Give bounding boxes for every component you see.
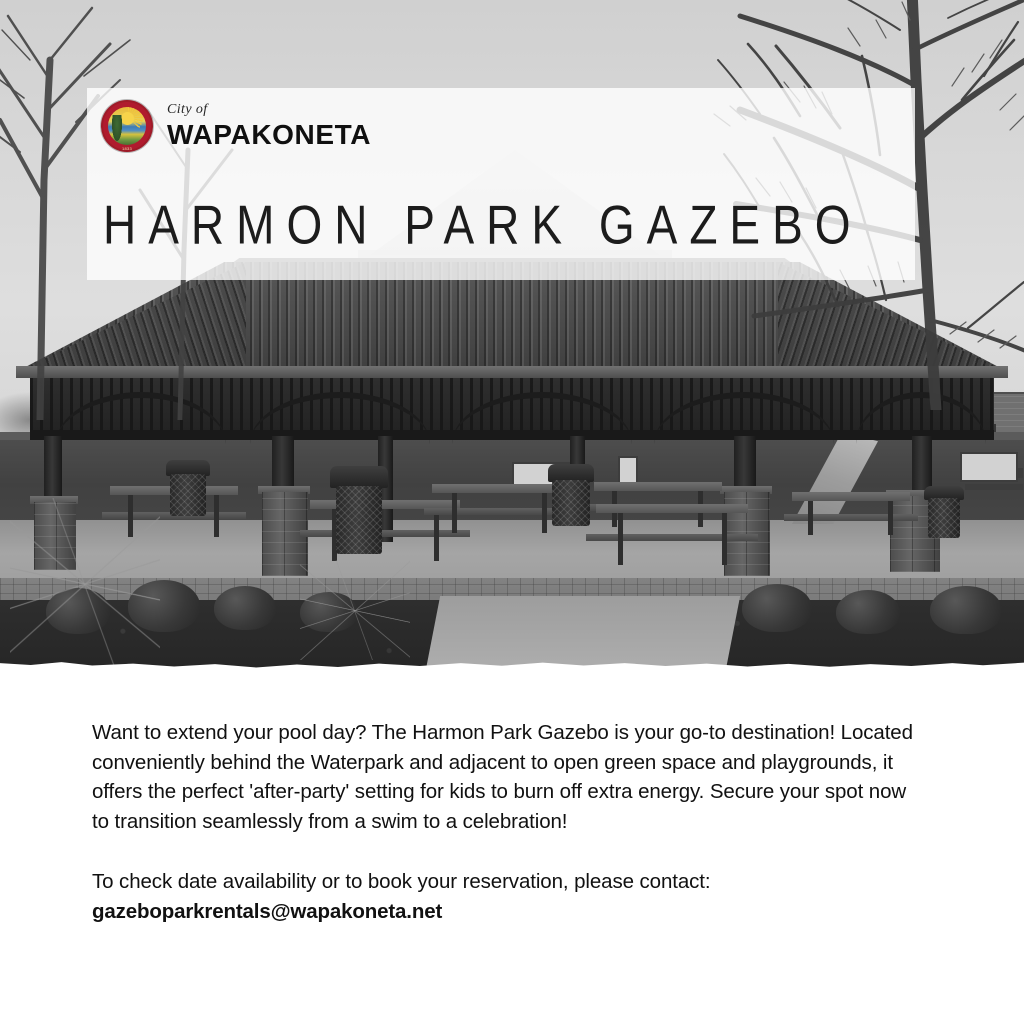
bare-shrub	[300, 560, 410, 660]
picnic-table-leg	[542, 493, 547, 533]
picnic-table	[596, 504, 748, 566]
gazebo-post	[734, 436, 756, 488]
gazebo-soffit	[30, 430, 994, 440]
picnic-table-leg	[808, 501, 813, 535]
trash-can-lid	[330, 466, 388, 488]
city-seal-icon: 1833	[101, 100, 153, 152]
picnic-table-leg	[888, 501, 893, 535]
picnic-table-top	[432, 484, 568, 493]
picnic-table	[792, 492, 910, 536]
description-paragraph: Want to extend your pool day? The Harmon…	[92, 718, 922, 836]
city-seal-year: 1833	[101, 146, 153, 151]
shrub	[214, 586, 276, 630]
contact-block: To check date availability or to book yo…	[92, 867, 922, 926]
picnic-table-leg	[452, 493, 457, 533]
trash-can	[552, 480, 590, 526]
picnic-table-leg	[618, 513, 623, 565]
page-title: HARMON PARK GAZEBO	[103, 193, 903, 257]
picnic-table-leg	[214, 495, 219, 537]
city-of-label: City of	[167, 103, 371, 117]
gazebo-post	[272, 436, 294, 488]
shrub	[930, 586, 1002, 634]
header-overlay-panel: 1833 City of WAPAKONETA HARMON PARK GAZE…	[87, 88, 915, 280]
picnic-table-top	[792, 492, 910, 501]
shrub	[742, 584, 812, 632]
bare-shrub	[10, 498, 160, 668]
picnic-table-top	[596, 504, 748, 513]
city-name-label: WAPAKONETA	[167, 121, 371, 149]
picnic-table	[432, 484, 568, 534]
trash-can	[170, 474, 206, 516]
trash-can	[336, 486, 382, 554]
picnic-table-bench	[784, 514, 918, 521]
contact-prompt: To check date availability or to book yo…	[92, 867, 922, 897]
poster-canvas: 1833 City of WAPAKONETA HARMON PARK GAZE…	[0, 0, 1024, 1024]
seal-tree-icon	[112, 115, 122, 141]
poster-body: Want to extend your pool day? The Harmon…	[92, 718, 922, 926]
trash-can	[928, 498, 960, 538]
shrub	[836, 590, 900, 634]
brand-text: City of WAPAKONETA	[167, 103, 371, 149]
contact-email[interactable]: gazeboparkrentals@wapakoneta.net	[92, 897, 922, 927]
gazebo-post	[912, 436, 932, 492]
picnic-table-bench	[586, 534, 758, 541]
brand-lockup: 1833 City of WAPAKONETA	[101, 100, 371, 152]
picnic-table-leg	[722, 513, 727, 565]
picnic-table-top	[594, 482, 722, 491]
city-seal-scene	[108, 107, 146, 145]
